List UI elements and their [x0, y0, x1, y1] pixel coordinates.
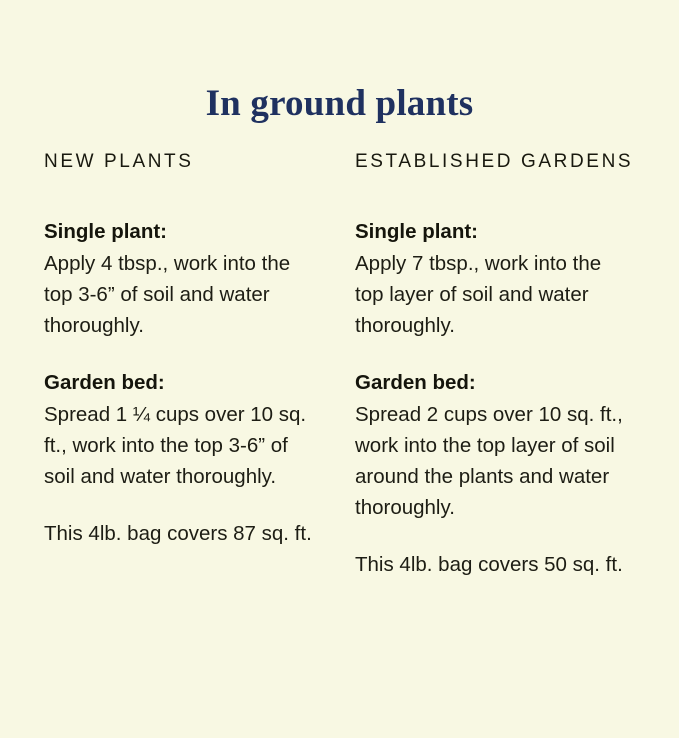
- column-established-gardens: ESTABLISHED GARDENS Single plant: Apply …: [355, 150, 635, 580]
- bag-coverage-note: This 4lb. bag covers 50 sq. ft.: [355, 549, 635, 580]
- instruction-columns: NEW PLANTS Single plant: Apply 4 tbsp., …: [44, 150, 635, 580]
- section-garden-bed: Garden bed: Spread 1 ¼ cups over 10 sq. …: [44, 367, 355, 492]
- garden-bed-instructions: Spread 1 ¼ cups over 10 sq. ft., work in…: [44, 399, 314, 492]
- section-single-plant: Single plant: Apply 4 tbsp., work into t…: [44, 216, 355, 341]
- column-header-new-plants: NEW PLANTS: [44, 150, 355, 174]
- single-plant-instructions: Apply 7 tbsp., work into the top layer o…: [355, 248, 635, 341]
- single-plant-label: Single plant:: [44, 216, 314, 247]
- column-header-established-gardens: ESTABLISHED GARDENS: [355, 150, 635, 174]
- page-title: In ground plants: [0, 82, 679, 126]
- instruction-panel: In ground plants NEW PLANTS Single plant…: [0, 0, 679, 738]
- single-plant-instructions: Apply 4 tbsp., work into the top 3-6” of…: [44, 248, 314, 341]
- garden-bed-instructions: Spread 2 cups over 10 sq. ft., work into…: [355, 399, 635, 523]
- section-single-plant: Single plant: Apply 7 tbsp., work into t…: [355, 216, 635, 341]
- bag-coverage-note: This 4lb. bag covers 87 sq. ft.: [44, 518, 355, 549]
- garden-bed-label: Garden bed:: [355, 367, 635, 398]
- section-garden-bed: Garden bed: Spread 2 cups over 10 sq. ft…: [355, 367, 635, 523]
- single-plant-label: Single plant:: [355, 216, 635, 247]
- garden-bed-label: Garden bed:: [44, 367, 314, 398]
- column-new-plants: NEW PLANTS Single plant: Apply 4 tbsp., …: [44, 150, 355, 549]
